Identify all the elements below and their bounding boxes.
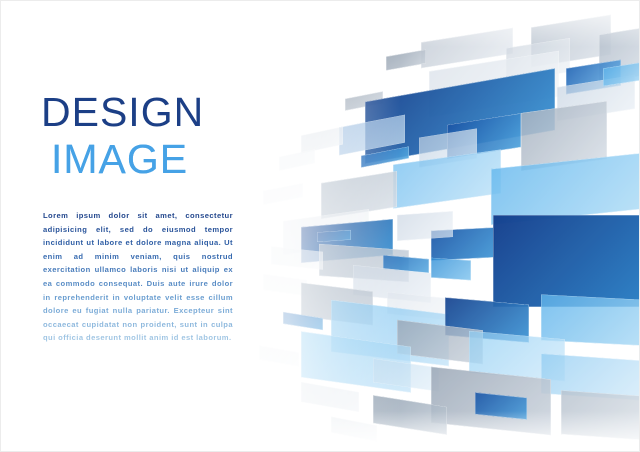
mosaic-rect [431,258,471,281]
mosaic-rect [397,211,453,241]
mosaic-rect [259,345,299,366]
mosaic-rect [393,149,501,208]
mosaic-rect [561,390,640,440]
page-title-line-2: IMAGE [51,135,241,183]
mosaic-rect [279,149,315,171]
mosaic-rect [263,183,303,205]
text-column: DESIGN IMAGE Lorem ipsum dolor sit amet,… [41,89,241,345]
page-title-line-1: DESIGN [41,89,241,135]
mosaic-rect [301,382,359,412]
mosaic-rect [301,127,343,154]
mosaic-rect [493,215,640,307]
mosaic-rect [331,417,377,442]
body-paragraph: Lorem ipsum dolor sit amet, consectetur … [43,209,233,345]
poster-canvas: DESIGN IMAGE Lorem ipsum dolor sit amet,… [0,0,640,452]
mosaic-rect [386,49,426,70]
